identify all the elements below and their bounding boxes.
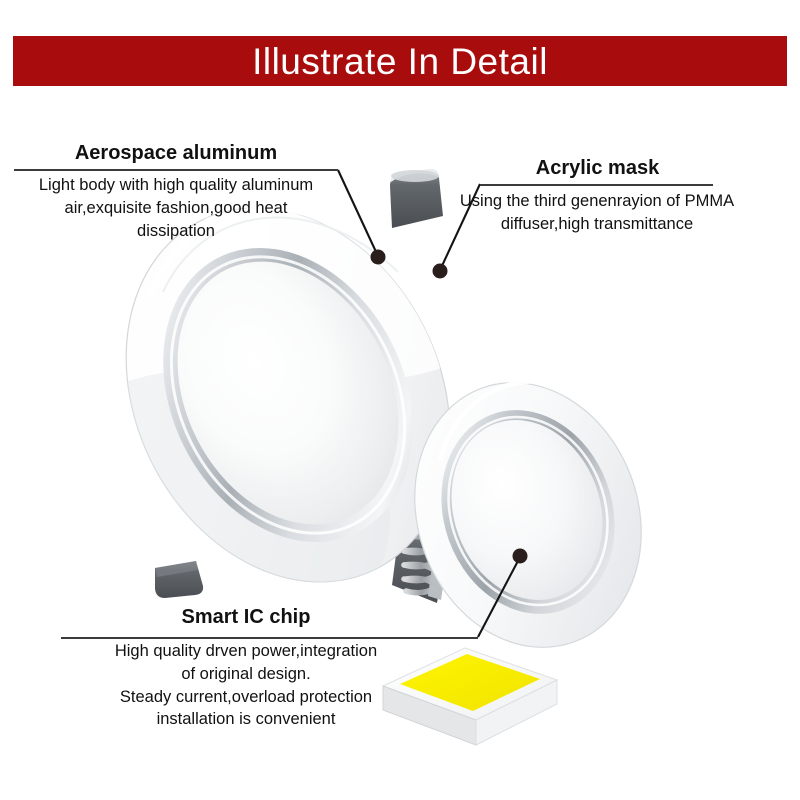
callout-acrylic-body: Using the third genenrayion of PMMA diff… [447,190,747,236]
callout-acrylic-rule [480,184,713,186]
callout-smartic-line-3: Steady current,overload protection [46,686,446,709]
mounting-clip-top [390,169,443,228]
callout-aerospace-title: Aerospace aluminum [0,142,352,165]
callout-smart-ic-chip: Smart IC chip High quality drven power,i… [46,606,446,731]
callout-aerospace-rule [14,169,338,171]
callout-aerospace-body: Light body with high quality aluminum ai… [0,174,352,242]
callout-aerospace-line-3: dissipation [0,220,352,243]
callout-acrylic-title: Acrylic mask [455,157,740,180]
callout-smartic-line-2: of original design. [46,663,446,686]
callout-acrylic-mask: Acrylic mask Using the third genenrayion… [455,157,740,236]
callout-smartic-title: Smart IC chip [46,606,446,629]
callout-aerospace-aluminum: Aerospace aluminum Light body with high … [0,142,352,242]
callout-acrylic-line-1: Using the third genenrayion of PMMA [447,190,747,213]
callout-smartic-line-4: installation is convenient [46,708,446,731]
callout-aerospace-line-2: air,exquisite fashion,good heat [0,197,352,220]
callout-smartic-body: High quality drven power,integration of … [46,640,446,731]
callout-acrylic-line-2: diffuser,high transmittance [447,213,747,236]
callout-aerospace-line-1: Light body with high quality aluminum [0,174,352,197]
callout-smartic-rule [61,637,478,639]
mounting-clip-bottom [155,561,203,598]
callout-smartic-line-1: High quality drven power,integration [46,640,446,663]
infographic-page: Illustrate In Detail [0,0,800,800]
